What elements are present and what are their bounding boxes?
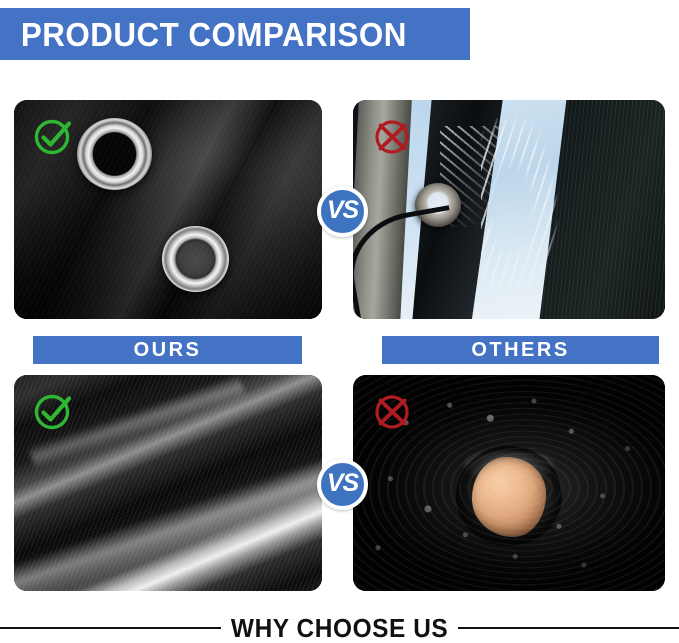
fabric-highlight-lower xyxy=(14,447,322,591)
label-bar-others: OTHERS xyxy=(382,336,659,364)
hand-through-tear xyxy=(472,457,547,537)
cross-circle-icon xyxy=(371,389,415,433)
panel-ours-fabric xyxy=(14,375,322,591)
panel-ours-grommets xyxy=(14,100,322,319)
title-banner: PRODUCT COMPARISON xyxy=(0,8,470,60)
check-circle-icon xyxy=(32,389,76,433)
grommet-upper xyxy=(77,118,152,190)
vs-badge-row1: VS xyxy=(317,186,368,237)
page-title: PRODUCT COMPARISON xyxy=(0,18,407,51)
footer-rule-left xyxy=(0,627,221,629)
vs-label: VS xyxy=(327,471,358,496)
panel-others-fabric xyxy=(353,375,665,591)
check-circle-icon xyxy=(32,114,76,158)
tear-shadow xyxy=(465,451,552,481)
label-bar-ours: OURS xyxy=(33,336,302,364)
grommet-lower xyxy=(162,226,229,292)
footer-title: WHY CHOOSE US xyxy=(228,615,451,641)
footer: WHY CHOOSE US xyxy=(0,612,679,643)
tear-opening xyxy=(456,446,562,545)
vs-badge-row2: VS xyxy=(317,459,368,510)
product-comparison-infographic: PRODUCT COMPARISON VS xyxy=(0,0,679,643)
footer-rule-right xyxy=(458,627,679,629)
cross-circle-icon xyxy=(371,114,415,158)
vs-label: VS xyxy=(327,198,358,223)
label-others-text: OTHERS xyxy=(471,340,569,360)
label-ours-text: OURS xyxy=(134,340,202,360)
panel-others-grommets xyxy=(353,100,665,319)
